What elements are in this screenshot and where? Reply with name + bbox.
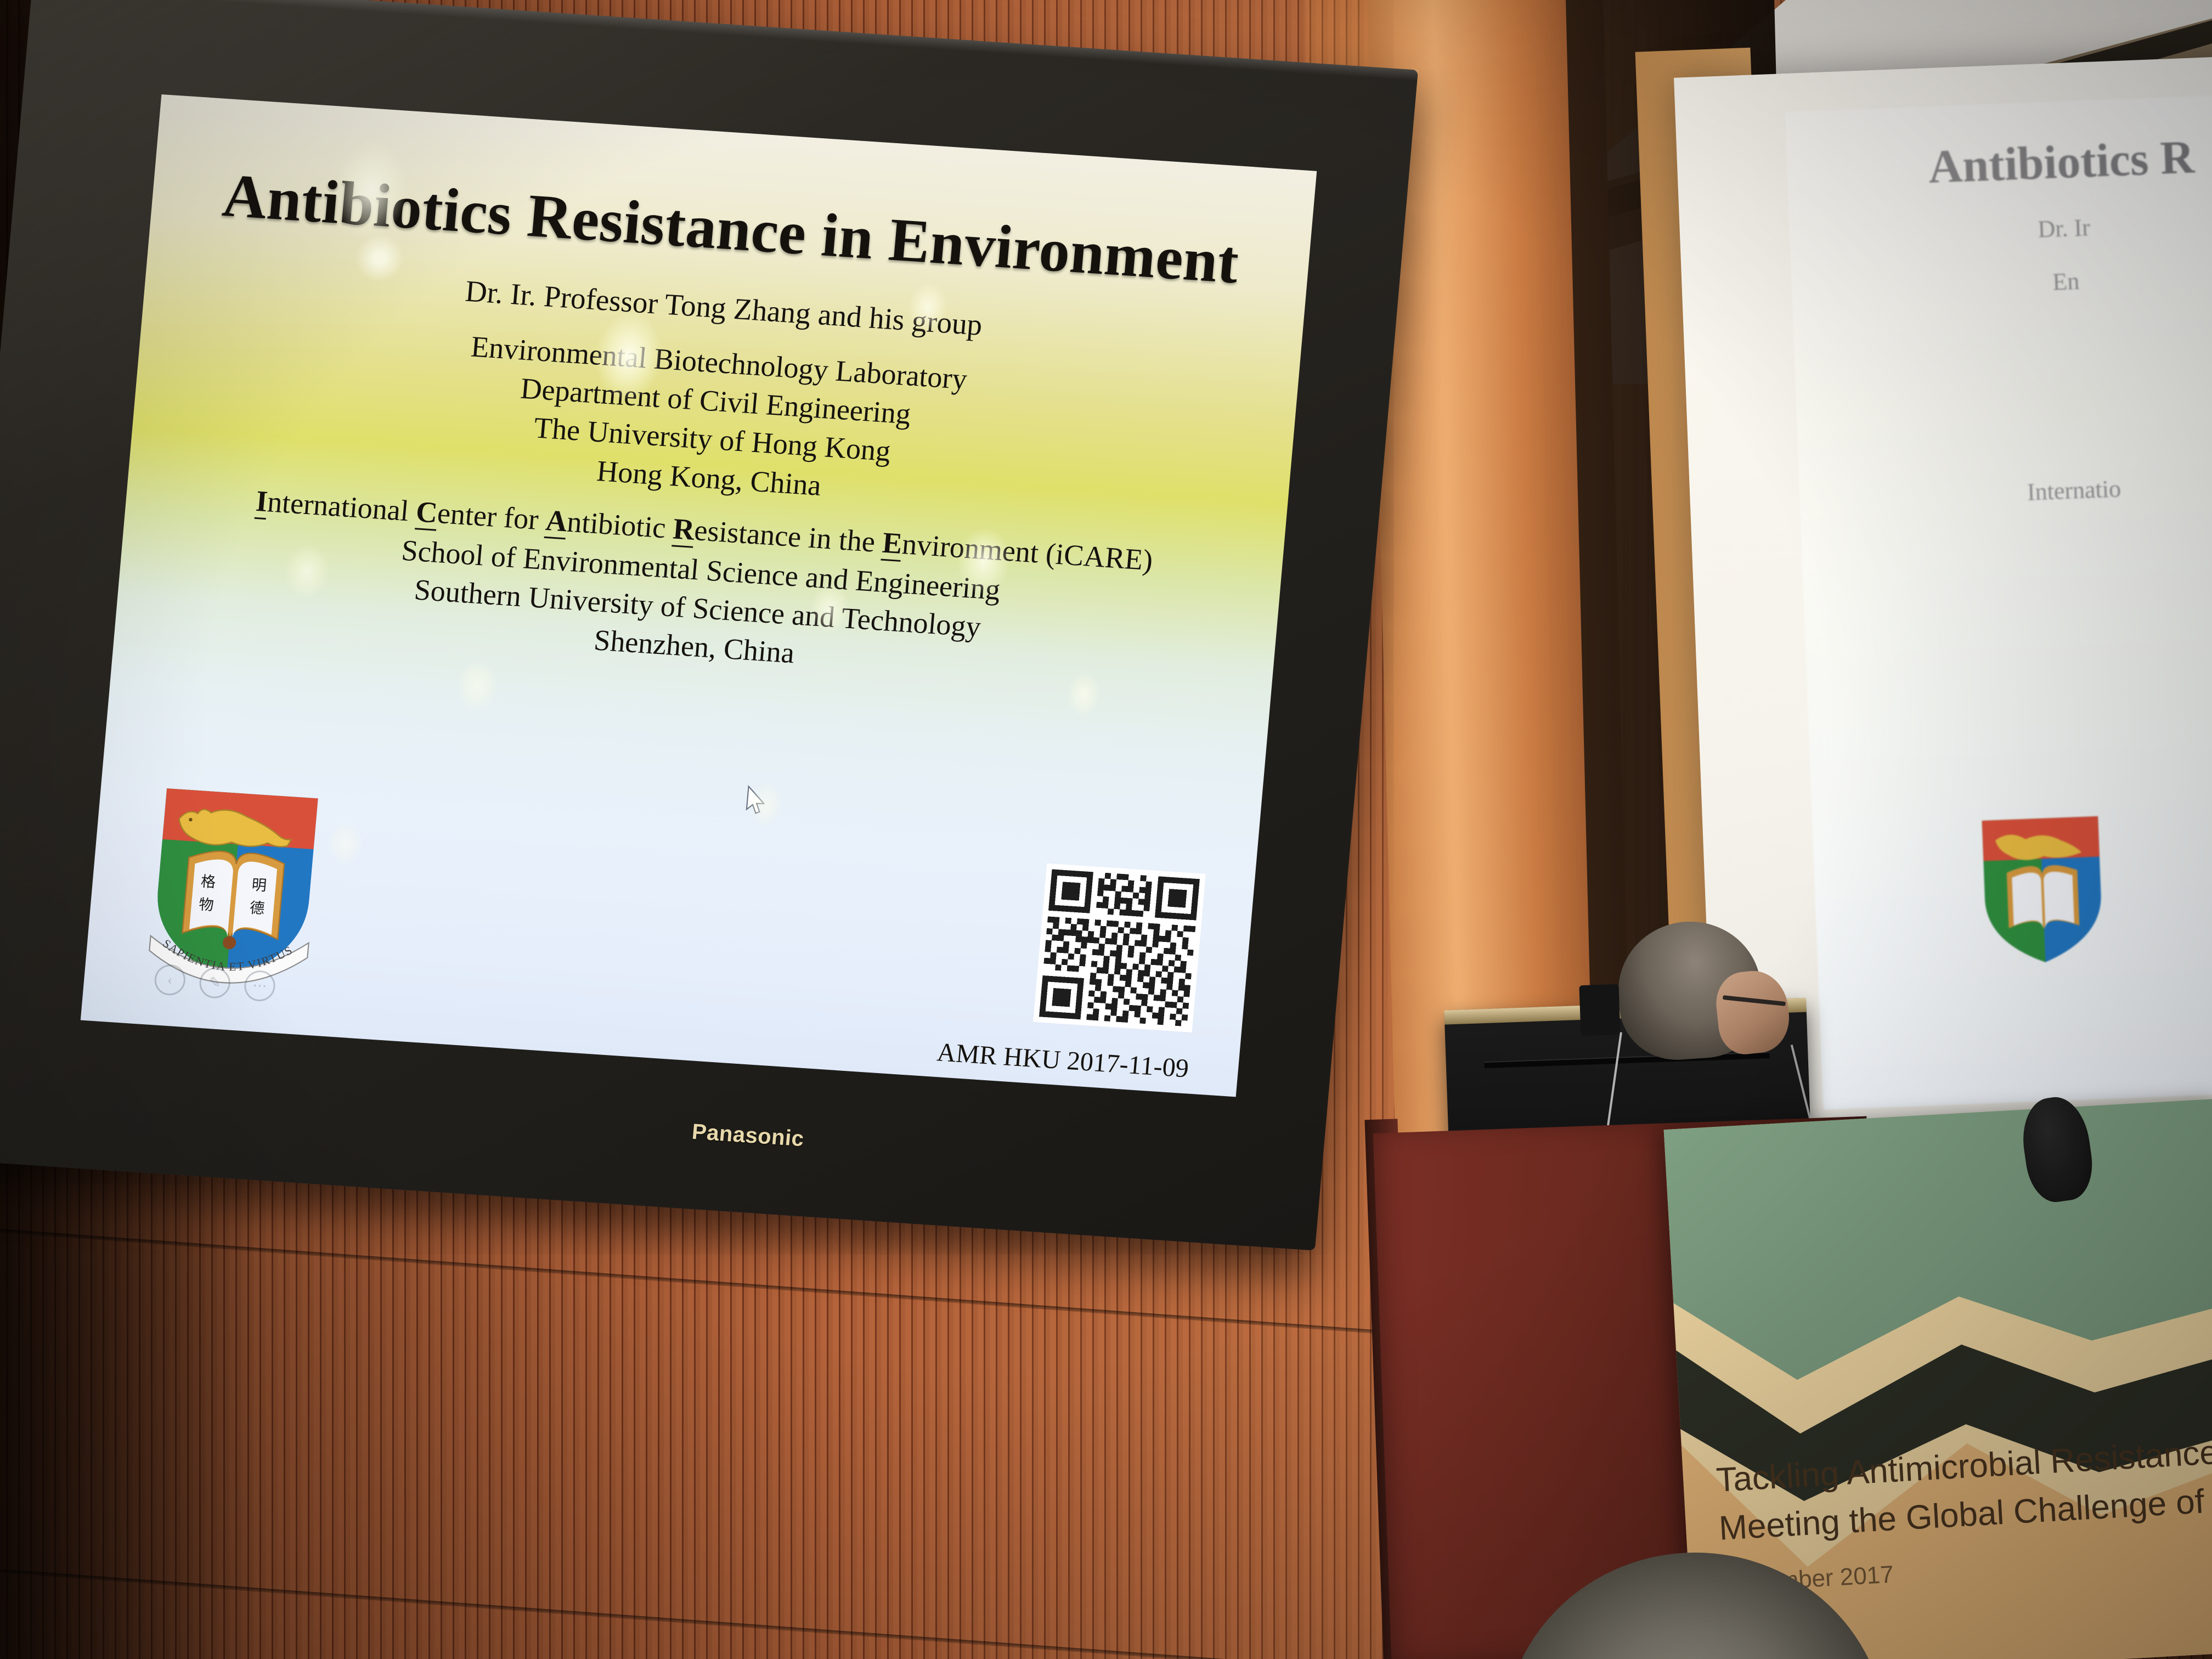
icare-text: ntibiotic — [566, 505, 674, 545]
projected-slide-author: Dr. Ir — [1790, 204, 2212, 253]
projected-hku-crest-icon — [1977, 814, 2108, 967]
icare-initial: C — [415, 495, 439, 531]
screen-glare — [455, 658, 500, 713]
projected-slide-title: Antibiotics R — [1786, 124, 2212, 200]
banner-text-block: Tackling Antimicrobial Resistance: Meeti… — [1715, 1426, 2212, 1601]
lecture-hall-photo: Antibiotics R Dr. Ir En Internatio — [0, 0, 2212, 1659]
slide: Antibiotics Resistance in Environment Dr… — [81, 94, 1317, 1097]
projected-slide-affiliation: En — [1791, 257, 2212, 306]
projected-slide: Antibiotics R Dr. Ir En Internatio — [1785, 91, 2212, 1110]
icare-text: nternational — [266, 485, 417, 528]
crest-char-de: 德 — [249, 900, 266, 918]
crest-char-ming: 明 — [251, 877, 268, 895]
monitor-slot — [1485, 1052, 1770, 1068]
pen-pointer-icon[interactable]: ✎ — [198, 967, 232, 999]
projected-slide-center: Internatio — [1799, 466, 2212, 515]
display-screen: Antibiotics Resistance in Environment Dr… — [81, 94, 1317, 1097]
more-options-icon[interactable]: ⋯ — [243, 969, 276, 1002]
mouse-cursor-icon — [744, 785, 769, 816]
slide-footer-date: AMR HKU 2017-11-09 — [936, 1037, 1190, 1084]
icare-text: enter for — [436, 496, 548, 537]
wall-display: Antibiotics Resistance in Environment Dr… — [0, 0, 1418, 1250]
crest-char-ge: 格 — [200, 873, 217, 891]
icare-initial: E — [881, 526, 904, 562]
screen-glare — [325, 820, 365, 866]
icare-initial: A — [544, 504, 568, 539]
qr-code-icon — [1033, 864, 1206, 1032]
crest-char-wu: 物 — [198, 896, 215, 914]
hku-crest-icon: 格 物 明 德 SAPIENTIA ET VIRTUS — [145, 785, 325, 976]
prev-slide-icon[interactable]: ‹ — [153, 963, 187, 996]
icare-initial: R — [672, 512, 696, 548]
microphone-clip — [1579, 984, 1620, 1036]
